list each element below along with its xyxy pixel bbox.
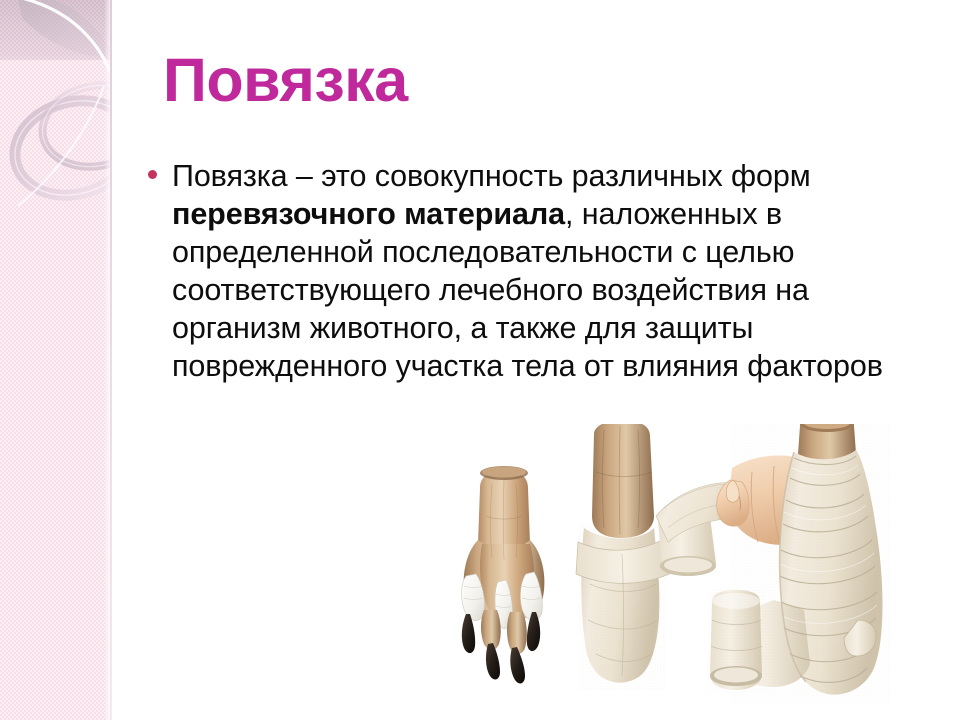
figure-animal-paw [462, 466, 545, 683]
sidebar-divider [110, 0, 112, 720]
body-bold-term: перевязочного материала [172, 197, 565, 231]
body-text-run: Повязка – это совокупность различных фор… [172, 159, 811, 193]
sidebar-ring-graphics [0, 0, 112, 720]
bullet-list-item: Повязка – это совокупность различных фор… [140, 157, 900, 385]
slide-canvas: Повязка Повязка – это совокупность разли… [0, 0, 960, 720]
bandage-roll [708, 588, 766, 692]
claw [510, 647, 525, 683]
illustration-svg [444, 424, 960, 720]
page-title: Повязка [163, 48, 883, 113]
content-body: Повязка – это совокупность различных фор… [140, 157, 900, 385]
body-paragraph: Повязка – это совокупность различных фор… [172, 157, 900, 385]
claw [486, 643, 500, 679]
bullet-point-icon [148, 170, 157, 179]
paw-bandaging-illustration [444, 424, 960, 720]
decorative-sidebar [0, 0, 112, 720]
